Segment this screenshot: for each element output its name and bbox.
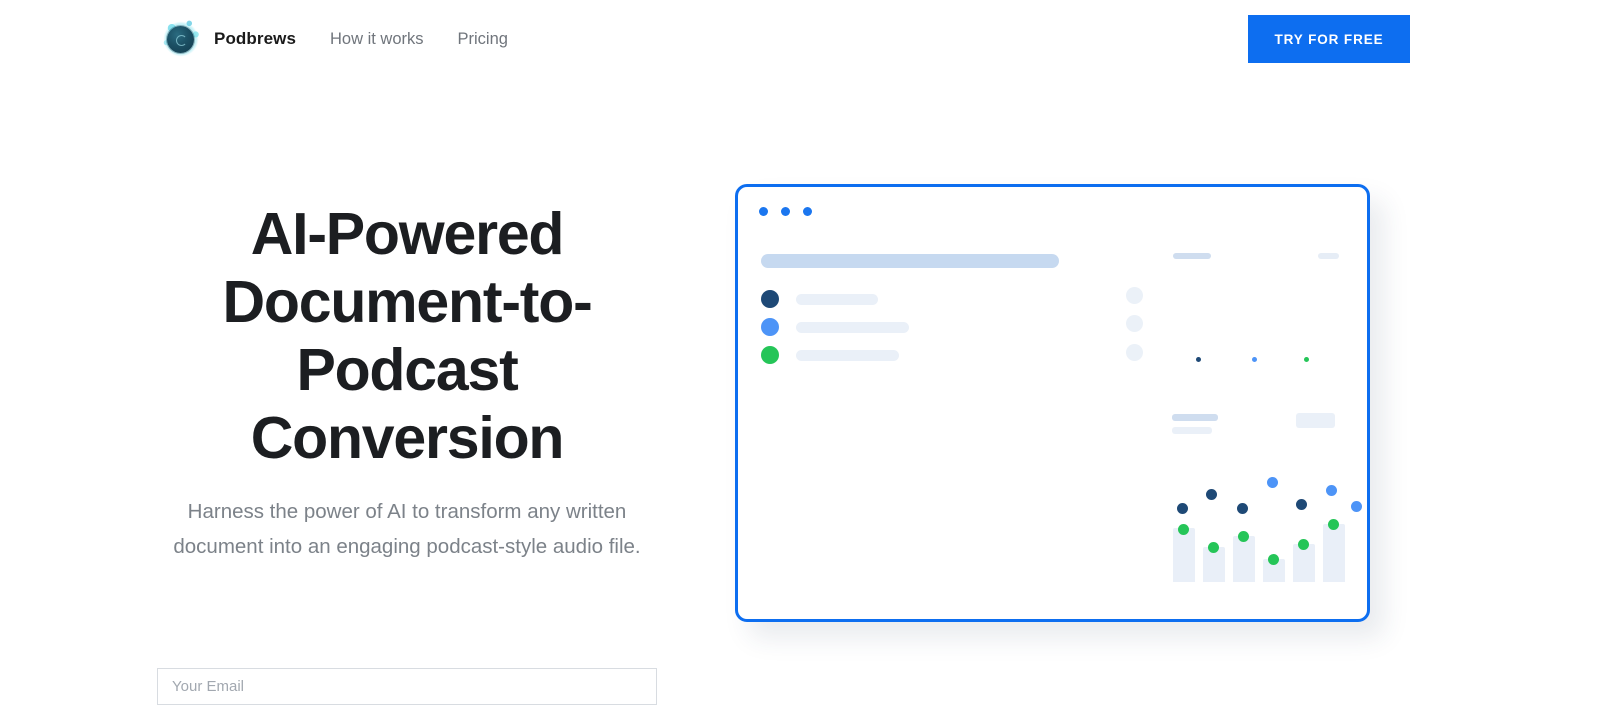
placeholder-circle	[1126, 315, 1143, 332]
placeholder-title-bar	[761, 254, 1059, 268]
bar-marker-icon	[1328, 519, 1339, 530]
bar-marker-icon	[1238, 531, 1249, 542]
placeholder-line	[1173, 253, 1211, 259]
placeholder-line	[1172, 427, 1212, 434]
site-header: Podbrews How it works Pricing TRY FOR FR…	[0, 0, 1600, 78]
bar-marker-icon	[1298, 539, 1309, 550]
placeholder-line	[1172, 414, 1218, 421]
placeholder-line	[1318, 253, 1339, 259]
podbrews-splash-logo-icon	[158, 16, 204, 62]
try-for-free-button[interactable]: TRY FOR FREE	[1248, 15, 1410, 63]
bar	[1233, 536, 1255, 582]
tiny-dot-icon	[1252, 357, 1257, 362]
scatter-point-icon	[1206, 489, 1217, 500]
scatter-point-icon	[1237, 503, 1248, 514]
status-dot-icon	[761, 346, 779, 364]
window-dot-icon	[759, 207, 768, 216]
scatter-point-icon	[1177, 503, 1188, 514]
landing-page: Podbrews How it works Pricing TRY FOR FR…	[0, 0, 1600, 725]
tiny-dot-icon	[1196, 357, 1201, 362]
dashboard-illustration	[735, 184, 1370, 622]
nav-item-pricing[interactable]: Pricing	[458, 30, 508, 49]
page-title: AI-Powered Document-to-Podcast Conversio…	[157, 200, 657, 472]
scatter-point-icon	[1326, 485, 1337, 496]
window-dot-icon	[803, 207, 812, 216]
placeholder-line	[1296, 413, 1335, 428]
email-field[interactable]	[157, 668, 657, 705]
tiny-dot-icon	[1304, 357, 1309, 362]
list-item	[761, 341, 909, 369]
placeholder-circle	[1126, 287, 1143, 304]
window-dot-icon	[781, 207, 790, 216]
bar	[1173, 528, 1195, 582]
scatter-point-icon	[1267, 477, 1278, 488]
bar	[1323, 524, 1345, 582]
bar-marker-icon	[1178, 524, 1189, 535]
brand-logo[interactable]: Podbrews	[158, 12, 296, 66]
status-dot-icon	[761, 318, 779, 336]
mini-bar-chart	[1168, 472, 1343, 582]
main-nav: How it works Pricing	[330, 0, 508, 78]
list-item	[761, 313, 909, 341]
scatter-point-icon	[1351, 501, 1362, 512]
bar-marker-icon	[1268, 554, 1279, 565]
hero-copy: AI-Powered Document-to-Podcast Conversio…	[157, 200, 657, 564]
brand-name: Podbrews	[214, 29, 296, 49]
window-dots	[759, 207, 812, 216]
nav-item-how-it-works[interactable]: How it works	[330, 30, 424, 49]
placeholder-circle	[1126, 344, 1143, 361]
list-item	[761, 285, 909, 313]
scatter-point-icon	[1296, 499, 1307, 510]
placeholder-list	[761, 285, 909, 369]
status-dot-icon	[761, 290, 779, 308]
hero-subtitle: Harness the power of AI to transform any…	[157, 494, 657, 564]
bar-marker-icon	[1208, 542, 1219, 553]
